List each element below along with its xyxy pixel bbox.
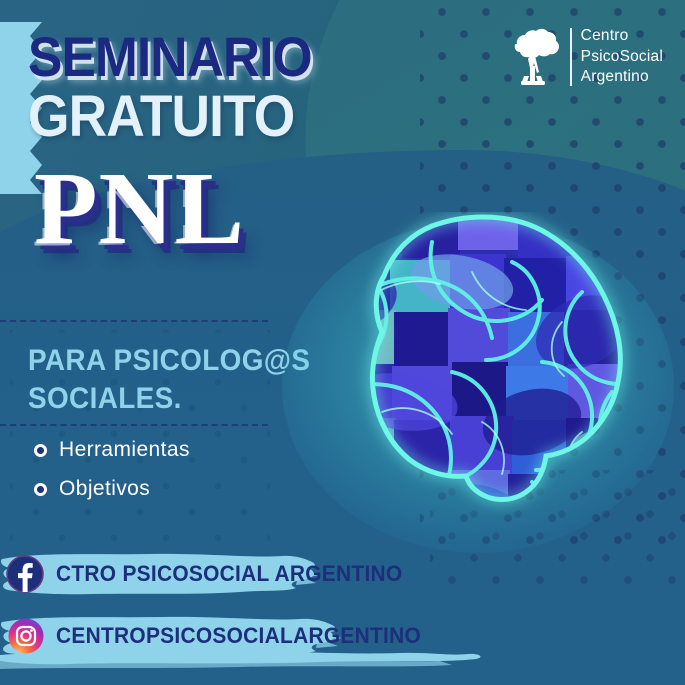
- social-bar-facebook[interactable]: CTRO PSICOSOCIAL ARGENTINO: [0, 550, 330, 598]
- subheading-line-2: SOCIALES.: [28, 380, 310, 418]
- divider-top: [0, 320, 268, 322]
- bullet-label: Herramientas: [59, 438, 190, 462]
- facebook-icon[interactable]: [6, 555, 44, 593]
- headline-seminario: SEMINARIO: [28, 30, 341, 83]
- poster-canvas: Centro PsicoSocial Argentino SEMINARIO G…: [0, 0, 685, 685]
- brain-illustration: [282, 212, 680, 572]
- list-item: Herramientas: [34, 438, 190, 462]
- bullet-dot-icon: [34, 444, 47, 457]
- bullet-label: Objetivos: [59, 477, 150, 501]
- instagram-icon[interactable]: [8, 618, 44, 654]
- logo-line-2: PsicoSocial: [581, 47, 663, 68]
- facebook-handle: CTRO PSICOSOCIAL ARGENTINO: [56, 561, 402, 587]
- logo-divider: [570, 28, 572, 86]
- brand-logo: Centro PsicoSocial Argentino: [505, 26, 663, 88]
- bullet-list: Herramientas Objetivos: [34, 438, 190, 516]
- bottom-brush-band: [0, 649, 685, 685]
- subheading-block: PARA PSICOLOG@S SOCIALES.: [28, 342, 310, 419]
- divider-bottom: [0, 424, 268, 426]
- subheading-line-1: PARA PSICOLOG@S: [28, 342, 310, 380]
- headline-gratuito: GRATUITO: [28, 89, 341, 146]
- logo-text: Centro PsicoSocial Argentino: [581, 26, 663, 88]
- bullet-dot-icon: [34, 483, 47, 496]
- logo-line-3: Argentino: [581, 67, 663, 88]
- list-item: Objetivos: [34, 477, 190, 501]
- logo-line-1: Centro: [581, 26, 663, 47]
- tree-icon: [505, 26, 561, 88]
- instagram-handle: CENTROPSICOSOCIALARGENTINO: [56, 623, 421, 649]
